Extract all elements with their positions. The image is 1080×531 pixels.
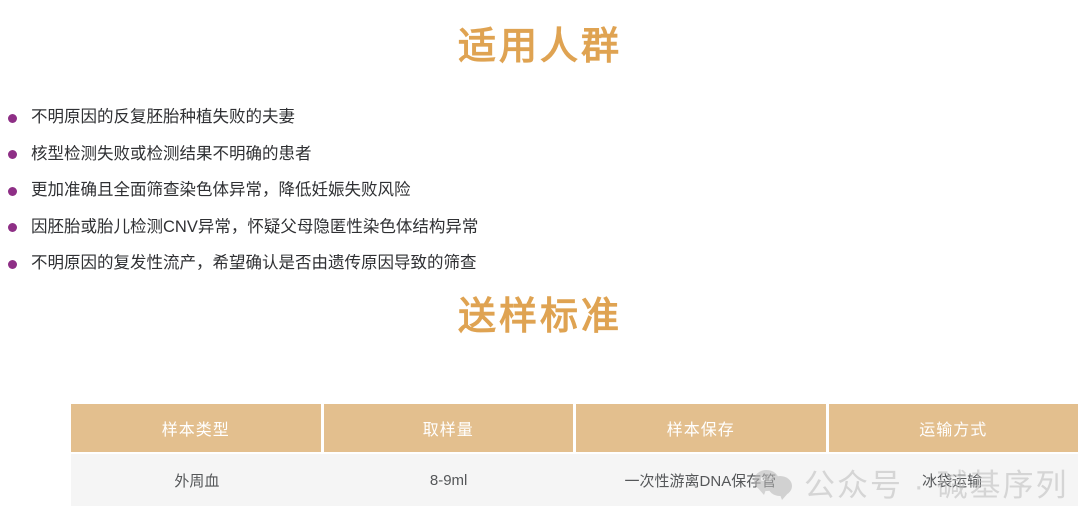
table-header-cell-transport: 运输方式 (829, 404, 1079, 452)
table-cell-storage: 一次性游离DNA保存管 (575, 454, 827, 506)
list-item: 核型检测失败或检测结果不明确的患者 (0, 137, 700, 174)
list-item: 更加准确且全面筛查染色体异常，降低妊娠失败风险 (0, 173, 700, 210)
table-cell-sample-type: 外周血 (71, 454, 323, 506)
list-item-label: 不明原因的反复胚胎种植失败的夫妻 (31, 108, 295, 128)
bullet-dot-icon (8, 114, 17, 123)
table-cell-transport: 冰袋运输 (826, 454, 1078, 506)
document-page: 适用人群 不明原因的反复胚胎种植失败的夫妻 核型检测失败或检测结果不明确的患者 … (0, 0, 1080, 531)
list-item-label: 不明原因的复发性流产，希望确认是否由遗传原因导致的筛查 (31, 254, 477, 274)
bullet-dot-icon (8, 260, 17, 269)
page-title-sample-standard: 送样标准 (0, 298, 1080, 336)
table-header-cell-sample-type: 样本类型 (71, 404, 321, 452)
table-cell-volume: 8-9ml (323, 454, 575, 506)
table-header-cell-volume: 取样量 (324, 404, 574, 452)
bullet-dot-icon (8, 223, 17, 232)
list-item-label: 更加准确且全面筛查染色体异常，降低妊娠失败风险 (31, 181, 411, 201)
table-row: 外周血 8-9ml 一次性游离DNA保存管 冰袋运输 (71, 454, 1078, 506)
table-header-row: 样本类型 取样量 样本保存 运输方式 (71, 404, 1078, 452)
bullet-dot-icon (8, 150, 17, 159)
list-item: 不明原因的反复胚胎种植失败的夫妻 (0, 100, 700, 137)
list-item-label: 因胚胎或胎儿检测CNV异常，怀疑父母隐匿性染色体结构异常 (31, 218, 478, 238)
list-item: 不明原因的复发性流产，希望确认是否由遗传原因导致的筛查 (0, 246, 700, 283)
sample-standard-table: 样本类型 取样量 样本保存 运输方式 外周血 8-9ml 一次性游离DNA保存管… (71, 404, 1078, 506)
bullet-dot-icon (8, 187, 17, 196)
list-item-label: 核型检测失败或检测结果不明确的患者 (31, 145, 312, 165)
page-title-target-population: 适用人群 (0, 28, 1080, 66)
table-header-cell-storage: 样本保存 (576, 404, 826, 452)
list-item: 因胚胎或胎儿检测CNV异常，怀疑父母隐匿性染色体结构异常 (0, 210, 700, 247)
target-population-list: 不明原因的反复胚胎种植失败的夫妻 核型检测失败或检测结果不明确的患者 更加准确且… (0, 100, 700, 283)
